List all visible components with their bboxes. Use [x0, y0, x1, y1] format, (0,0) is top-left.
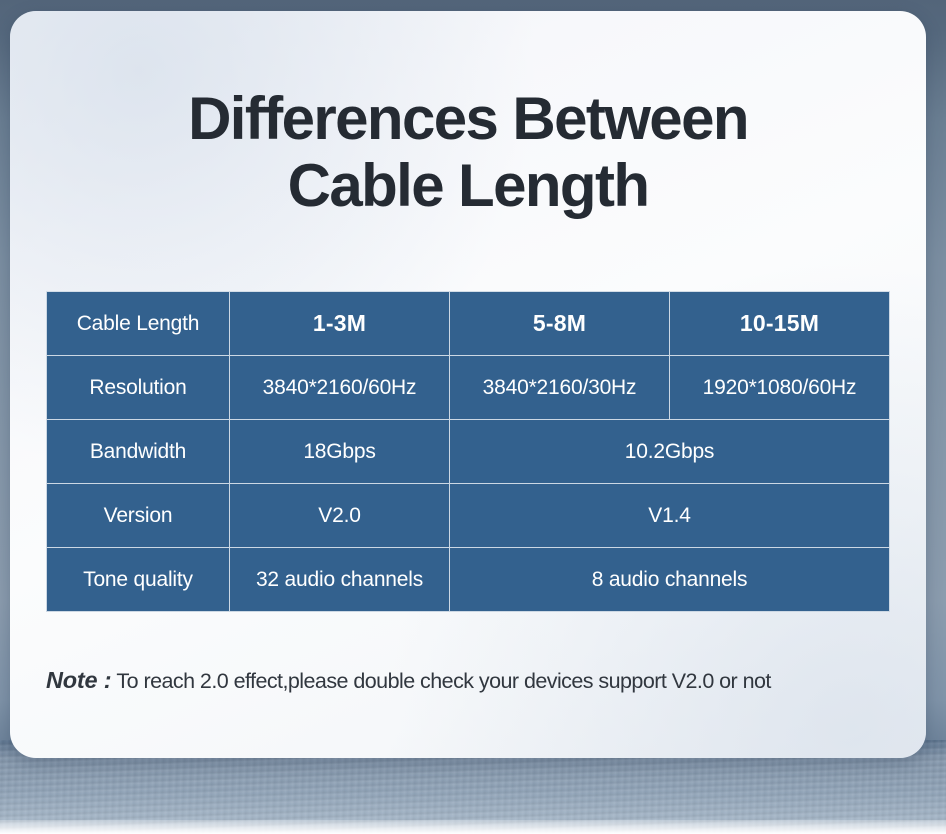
table-row: Version V2.0 V1.4 — [47, 484, 890, 548]
note-body: To reach 2.0 effect,please double check … — [111, 669, 770, 693]
screenshot-root: Differences Between Cable Length Cable L… — [0, 0, 946, 834]
cell-resolution-10-15m: 1920*1080/60Hz — [670, 356, 890, 420]
cell-resolution-5-8m: 3840*2160/30Hz — [450, 356, 670, 420]
cell-version-1-3m: V2.0 — [230, 484, 450, 548]
comparison-table: Cable Length 1-3M 5-8M 10-15M Resolution… — [46, 291, 890, 612]
table-row: Resolution 3840*2160/60Hz 3840*2160/30Hz… — [47, 356, 890, 420]
row-header-resolution: Resolution — [47, 356, 230, 420]
table-row: Cable Length 1-3M 5-8M 10-15M — [47, 292, 890, 356]
cell-tone-quality-5-15m: 8 audio channels — [450, 548, 890, 612]
column-header-1-3m: 1-3M — [230, 292, 450, 356]
table-row: Tone quality 32 audio channels 8 audio c… — [47, 548, 890, 612]
cell-version-5-15m: V1.4 — [450, 484, 890, 548]
background-bottom-fade — [0, 820, 946, 834]
cell-tone-quality-1-3m: 32 audio channels — [230, 548, 450, 612]
note-line: Note : To reach 2.0 effect,please double… — [46, 667, 898, 694]
table-row: Bandwidth 18Gbps 10.2Gbps — [47, 420, 890, 484]
cell-bandwidth-1-3m: 18Gbps — [230, 420, 450, 484]
comparison-table-body: Cable Length 1-3M 5-8M 10-15M Resolution… — [47, 292, 890, 612]
row-header-bandwidth: Bandwidth — [47, 420, 230, 484]
cell-bandwidth-5-15m: 10.2Gbps — [450, 420, 890, 484]
info-card: Differences Between Cable Length Cable L… — [10, 11, 926, 758]
note-label: Note : — [46, 667, 111, 693]
column-header-5-8m: 5-8M — [450, 292, 670, 356]
row-header-cable-length: Cable Length — [47, 292, 230, 356]
row-header-tone-quality: Tone quality — [47, 548, 230, 612]
cell-resolution-1-3m: 3840*2160/60Hz — [230, 356, 450, 420]
page-title: Differences Between Cable Length — [46, 85, 890, 219]
column-header-10-15m: 10-15M — [670, 292, 890, 356]
row-header-version: Version — [47, 484, 230, 548]
